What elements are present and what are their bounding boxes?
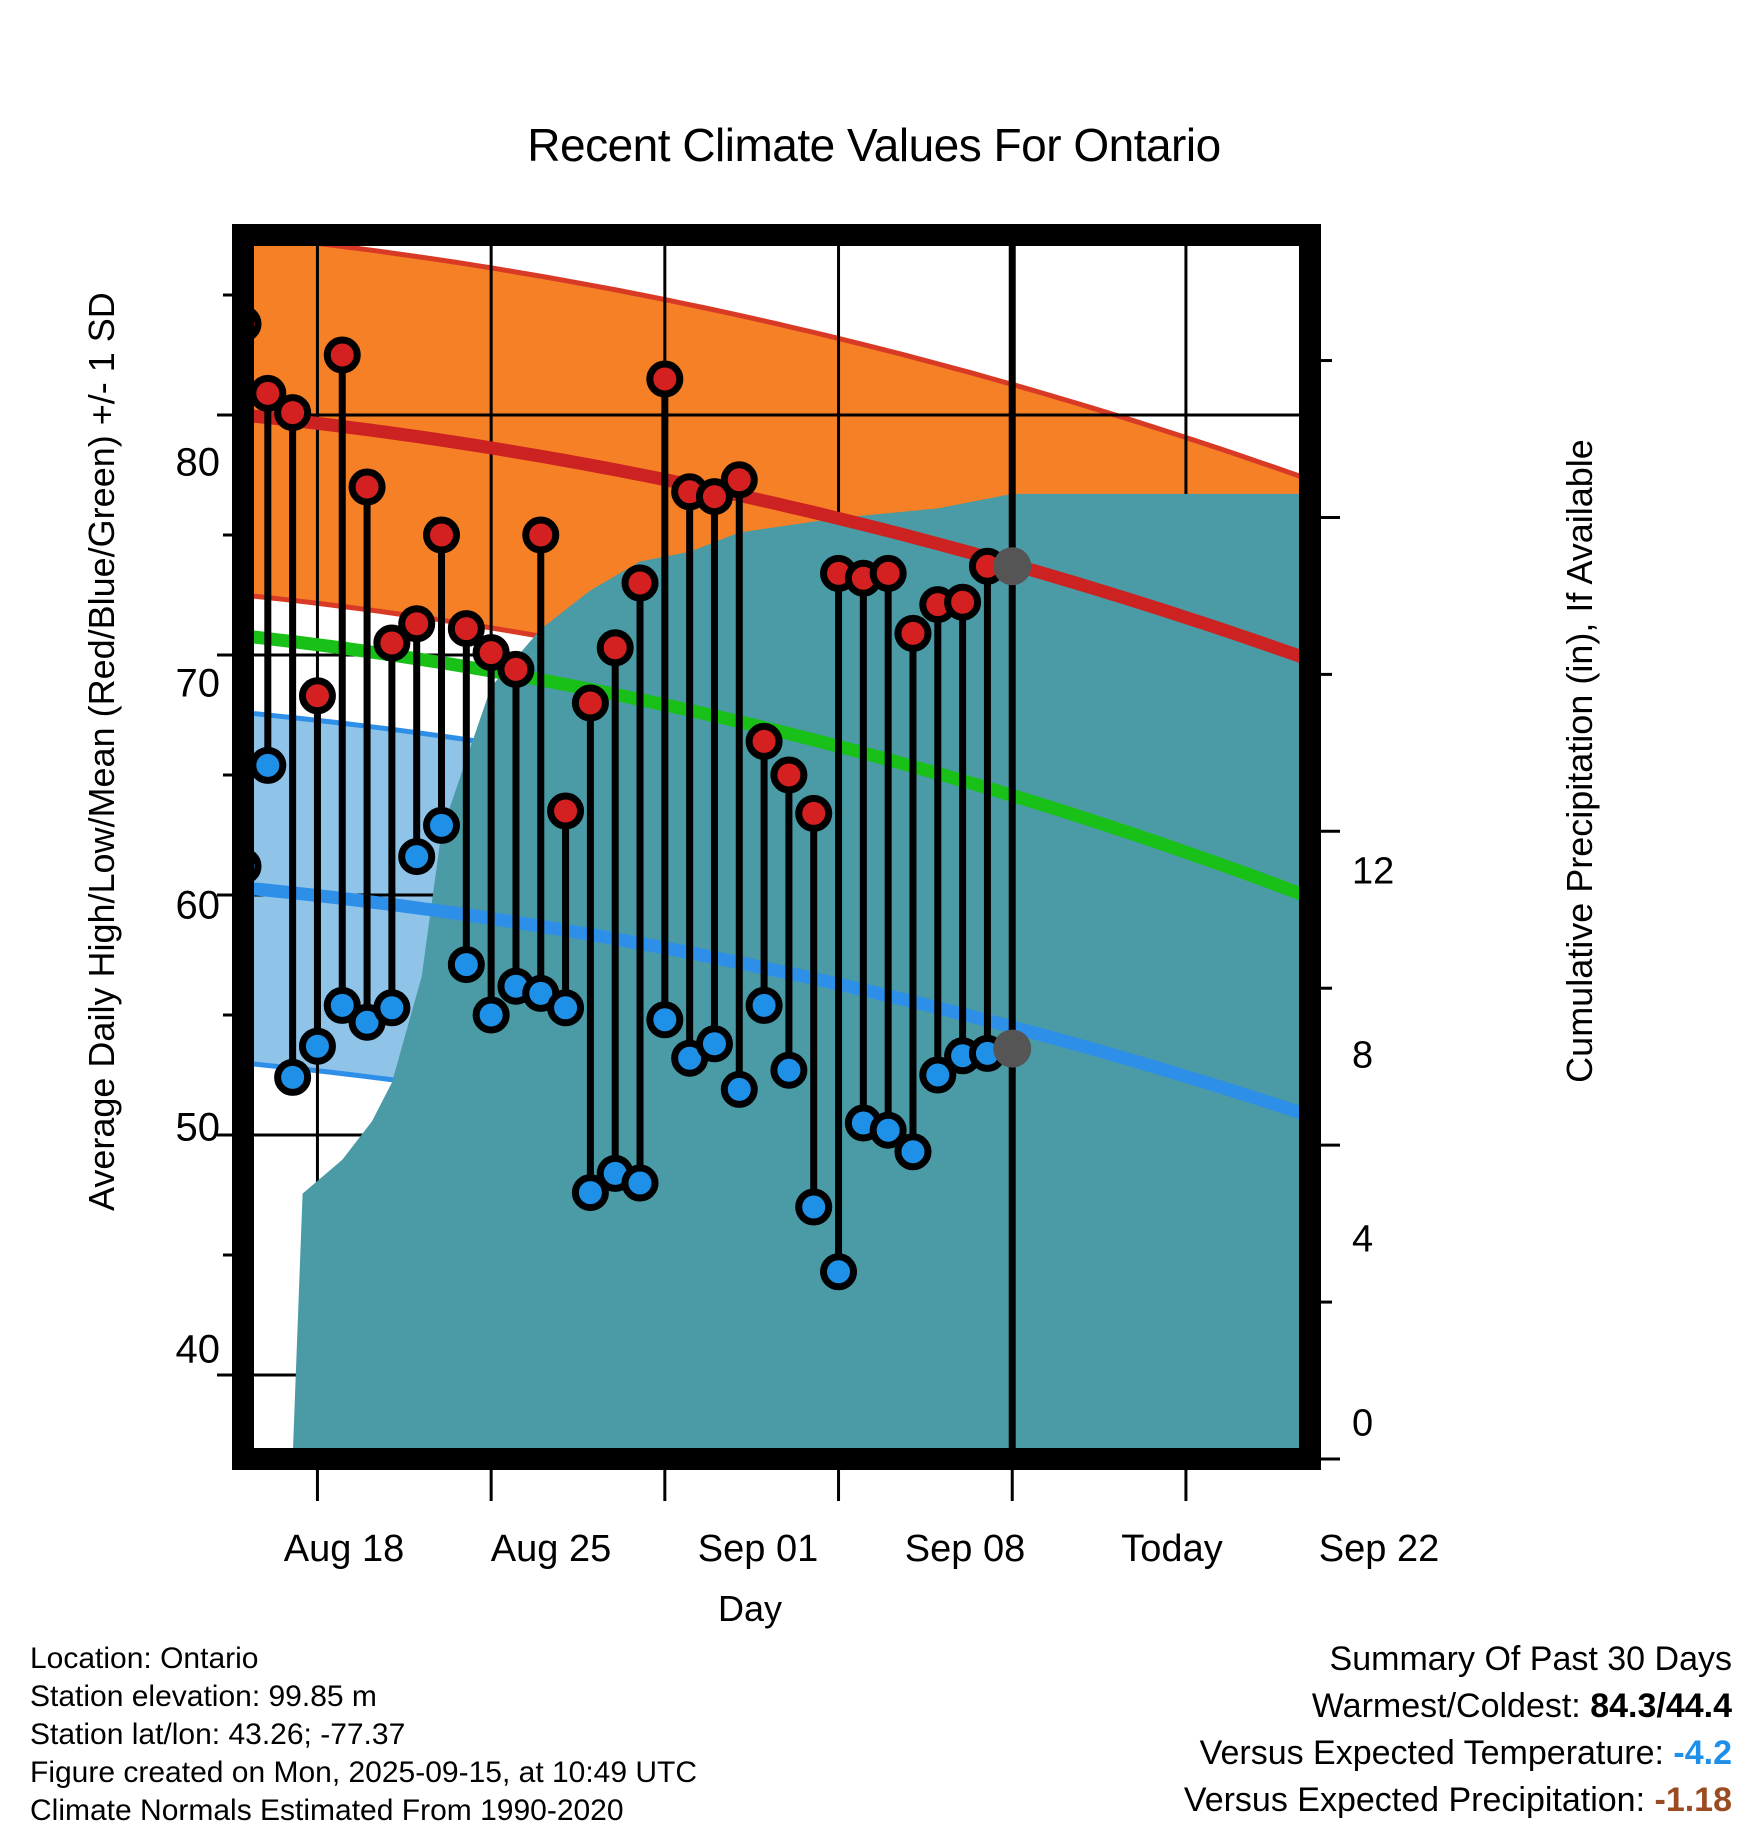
plot-canvas bbox=[0, 0, 1748, 1828]
summary-heading: Summary Of Past 30 Days bbox=[1184, 1636, 1732, 1683]
y-tick-left-70: 70 bbox=[110, 662, 220, 707]
station-metadata: Location: Ontario Station elevation: 99.… bbox=[30, 1640, 697, 1830]
versus-precipitation-row: Versus Expected Precipitation: -1.18 bbox=[1184, 1777, 1732, 1824]
versus-temperature-row: Versus Expected Temperature: -4.2 bbox=[1184, 1730, 1732, 1777]
high-sd-annotation-value: ±7.5°F bbox=[1192, 521, 1289, 561]
y-axis-label-right: Cumulative Precipitation (in), If Availa… bbox=[1559, 311, 1601, 1211]
low-avg-annotation-value: 53.6°F bbox=[1192, 1118, 1290, 1158]
y-tick-right-0: 0 bbox=[1352, 1403, 1373, 1446]
high-sd-annotation-label: 1 SD: bbox=[1192, 481, 1276, 521]
x-tick-today: Today bbox=[1121, 1528, 1222, 1571]
x-tick-sep-22: Sep 22 bbox=[1319, 1528, 1439, 1571]
x-tick-aug-18: Aug 18 bbox=[284, 1528, 404, 1571]
x-axis-label: Day bbox=[0, 1588, 1500, 1630]
y-tick-left-50: 50 bbox=[110, 1106, 220, 1151]
versus-precipitation-label: Versus Expected Precipitation: bbox=[1184, 1781, 1645, 1819]
y-tick-left-80: 80 bbox=[110, 441, 220, 486]
location-line: Location: Ontario bbox=[30, 1640, 697, 1678]
low-sd-annotation-label: 1 SD: bbox=[1192, 942, 1276, 982]
summary-panel: Summary Of Past 30 Days Warmest/Coldest:… bbox=[1184, 1636, 1732, 1824]
precip-window-label-line1: 30 bbox=[1192, 1358, 1229, 1400]
latlon-line: Station lat/lon: 43.26; -77.37 bbox=[30, 1716, 697, 1754]
high-avg-annotation-label: Avg: bbox=[1192, 617, 1264, 657]
x-tick-sep-01: Sep 01 bbox=[698, 1528, 818, 1571]
elevation-line: Station elevation: 99.85 m bbox=[30, 1678, 697, 1716]
y-tick-right-12: 12 bbox=[1352, 851, 1394, 894]
climate-figure: Recent Climate Values For Ontario Averag… bbox=[0, 0, 1748, 1828]
warmest-coldest-label: Warmest/Coldest: bbox=[1312, 1687, 1581, 1725]
warmest-coldest-row: Warmest/Coldest: 84.3/44.4 bbox=[1184, 1683, 1732, 1730]
versus-temperature-value: -4.2 bbox=[1673, 1734, 1732, 1772]
precip-window-label-line2: Days bbox=[1192, 1400, 1271, 1442]
y-tick-left-60: 60 bbox=[110, 884, 220, 929]
high-avg-annotation-value: 73.7°F bbox=[1192, 657, 1290, 697]
warmest-coldest-value: 84.3/44.4 bbox=[1590, 1687, 1732, 1725]
low-avg-annotation-label: Avg: bbox=[1192, 1078, 1264, 1118]
x-tick-aug-25: Aug 25 bbox=[491, 1528, 611, 1571]
y-tick-right-4: 4 bbox=[1352, 1219, 1373, 1262]
versus-temperature-label: Versus Expected Temperature: bbox=[1200, 1734, 1664, 1772]
page-title: Recent Climate Values For Ontario bbox=[0, 118, 1748, 172]
low-sd-annotation-value: ±7.3°F bbox=[1192, 982, 1289, 1022]
normals-line: Climate Normals Estimated From 1990-2020 bbox=[30, 1792, 697, 1830]
x-tick-sep-08: Sep 08 bbox=[905, 1528, 1025, 1571]
created-line: Figure created on Mon, 2025-09-15, at 10… bbox=[30, 1754, 697, 1792]
y-tick-right-8: 8 bbox=[1352, 1035, 1373, 1078]
versus-precipitation-value: -1.18 bbox=[1655, 1781, 1733, 1819]
y-tick-left-40: 40 bbox=[110, 1328, 220, 1373]
